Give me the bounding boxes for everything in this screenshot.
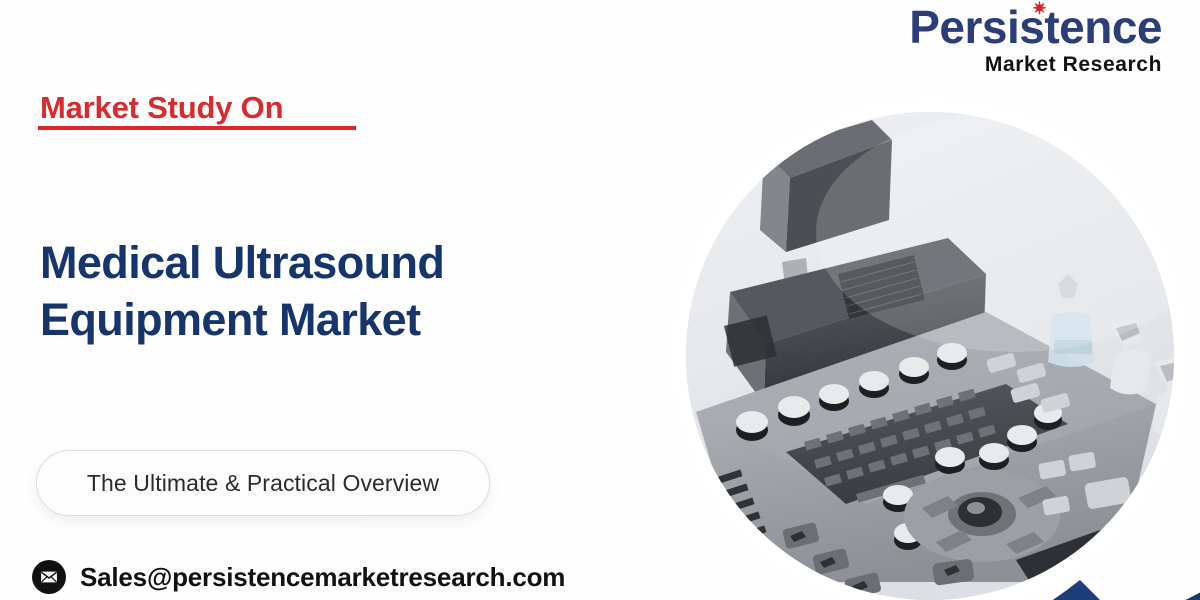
page-title-line-2: Equipment Market (40, 292, 444, 349)
hero-photo (686, 112, 1174, 600)
brand-logo: Persistence ✷ Market Research (909, 4, 1162, 76)
star-icon: ✷ (1031, 1, 1047, 17)
eyebrow-label: Market Study On (40, 90, 283, 126)
page-title: Medical Ultrasound Equipment Market (40, 235, 444, 348)
contact-email-row[interactable]: Sales@persistencemarketresearch.com (32, 560, 565, 594)
logo-tagline: Market Research (909, 53, 1162, 76)
tagline-pill[interactable]: The Ultimate & Practical Overview (36, 450, 490, 516)
logo-wordmark: Persistence ✷ (909, 4, 1162, 50)
envelope-icon (32, 560, 66, 594)
contact-email: Sales@persistencemarketresearch.com (80, 562, 565, 593)
eyebrow-underline (38, 126, 356, 130)
promo-banner: Persistence ✷ Market Research Market Stu… (0, 0, 1200, 600)
tagline-text: The Ultimate & Practical Overview (87, 470, 439, 497)
page-title-line-1: Medical Ultrasound (40, 237, 444, 288)
